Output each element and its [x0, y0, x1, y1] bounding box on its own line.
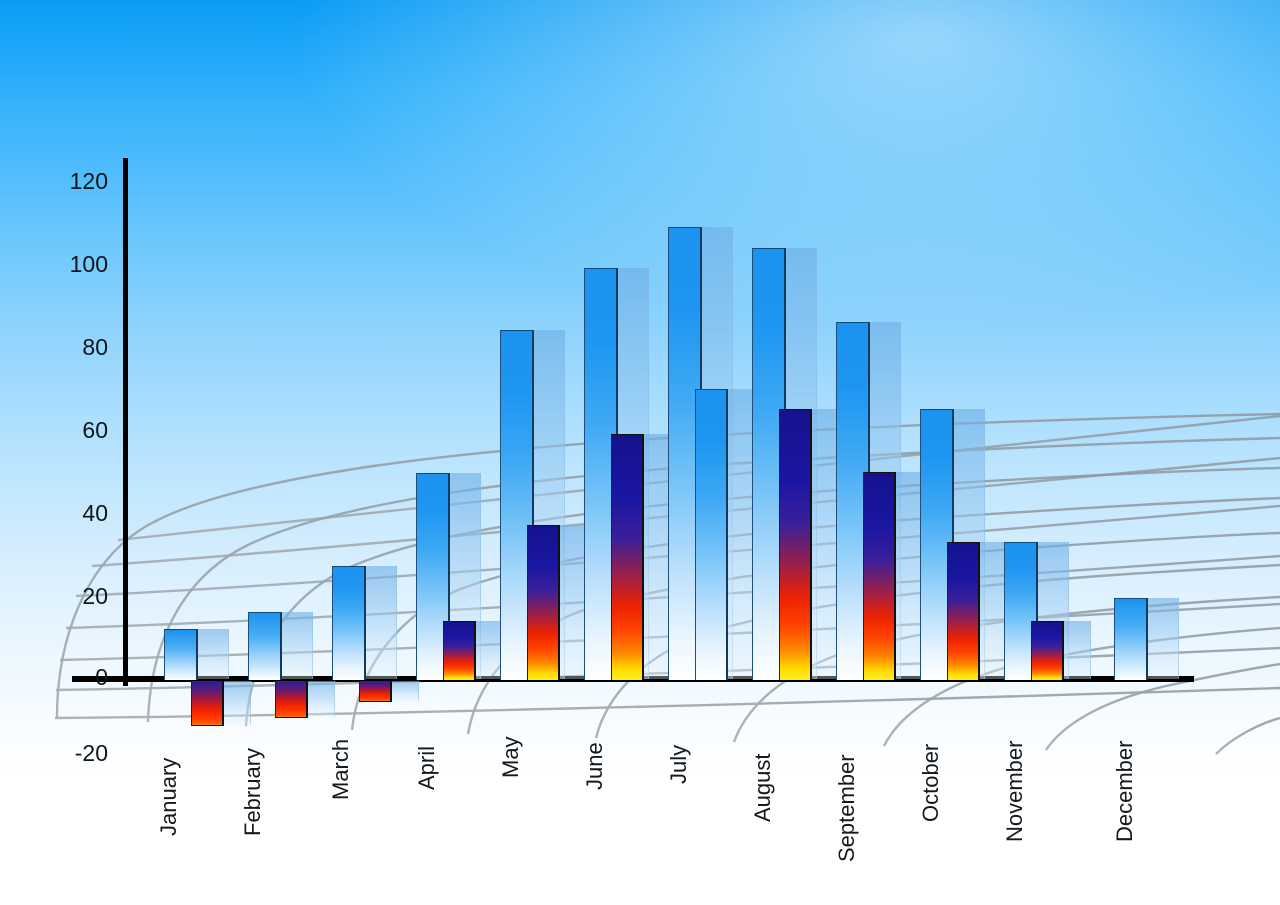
y-tick-120: 120 [48, 168, 108, 195]
bar-october-series2 [947, 542, 977, 679]
bar-january-series1 [164, 629, 195, 679]
x-tick-june: June [582, 742, 608, 790]
y-tick-40: 40 [48, 500, 108, 527]
bar-march-series2 [359, 681, 389, 701]
bar-march-series1 [332, 566, 363, 679]
bar-june-series2 [611, 434, 641, 679]
y-tick-neg20: -20 [40, 740, 108, 767]
bar-april-series2 [443, 621, 473, 679]
bar-november-series2 [1031, 621, 1061, 679]
y-tick-80: 80 [48, 334, 108, 361]
x-tick-december: December [1112, 741, 1138, 842]
bar-august-series2 [779, 409, 809, 679]
bar-july-series2 [695, 389, 725, 679]
bar-may-series2 [527, 525, 557, 679]
x-tick-september: September [834, 754, 860, 862]
y-tick-60: 60 [48, 417, 108, 444]
x-tick-march: March [328, 739, 354, 800]
bar-chart: 120 100 80 60 40 20 0 -20 [0, 0, 1280, 905]
x-tick-may: May [498, 736, 524, 778]
bar-january-series2 [191, 681, 221, 725]
y-axis-line [123, 158, 128, 686]
x-tick-august: August [750, 754, 776, 823]
x-tick-january: January [156, 758, 182, 836]
y-tick-20: 20 [48, 583, 108, 610]
x-tick-april: April [414, 746, 440, 790]
bar-december-series1 [1114, 598, 1145, 679]
y-tick-0: 0 [48, 664, 108, 691]
x-tick-july: July [666, 745, 692, 784]
bar-february-series1 [248, 612, 279, 679]
bar-february-series2 [275, 681, 305, 717]
x-tick-november: November [1002, 741, 1028, 842]
x-tick-october: October [918, 744, 944, 822]
y-tick-100: 100 [48, 251, 108, 278]
x-tick-february: February [240, 748, 266, 836]
bar-september-series2 [863, 472, 893, 679]
